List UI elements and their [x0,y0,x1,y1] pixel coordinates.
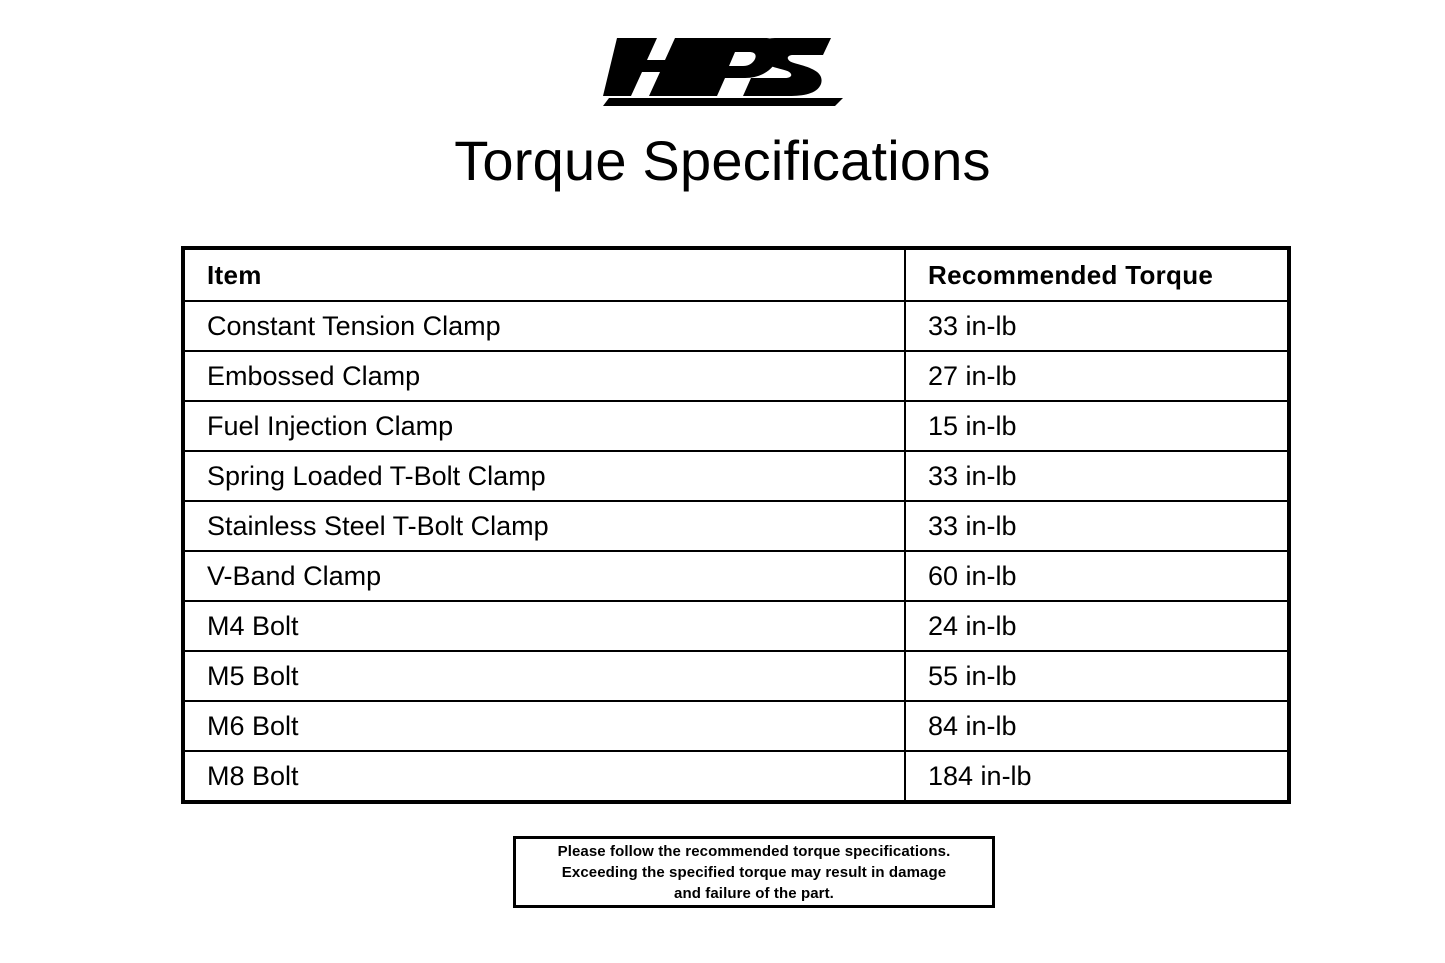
hps-logo-icon [603,34,843,106]
brand-logo [0,34,1445,106]
cell-torque: 15 in-lb [905,401,1289,451]
table-row: Spring Loaded T-Bolt Clamp 33 in-lb [183,451,1289,501]
cell-item: M8 Bolt [183,751,905,802]
table-row: Constant Tension Clamp 33 in-lb [183,301,1289,351]
note-line: Please follow the recommended torque spe… [558,841,951,862]
torque-specifications-table: Item Recommended Torque Constant Tension… [181,246,1291,804]
cell-item: V-Band Clamp [183,551,905,601]
torque-table-container: Item Recommended Torque Constant Tension… [181,246,1287,804]
cell-item: M4 Bolt [183,601,905,651]
note-line: and failure of the part. [674,883,834,904]
cell-torque: 33 in-lb [905,301,1289,351]
table-row: M4 Bolt 24 in-lb [183,601,1289,651]
warning-note-box: Please follow the recommended torque spe… [513,836,995,908]
table-row: M5 Bolt 55 in-lb [183,651,1289,701]
table-header-row: Item Recommended Torque [183,248,1289,301]
table-row: M6 Bolt 84 in-lb [183,701,1289,751]
cell-item: Fuel Injection Clamp [183,401,905,451]
cell-item: Spring Loaded T-Bolt Clamp [183,451,905,501]
cell-torque: 33 in-lb [905,501,1289,551]
cell-torque: 60 in-lb [905,551,1289,601]
cell-torque: 33 in-lb [905,451,1289,501]
cell-item: Stainless Steel T-Bolt Clamp [183,501,905,551]
cell-item: Constant Tension Clamp [183,301,905,351]
cell-item: Embossed Clamp [183,351,905,401]
column-header-torque: Recommended Torque [905,248,1289,301]
cell-torque: 27 in-lb [905,351,1289,401]
page-title: Torque Specifications [0,128,1445,194]
table-row: Stainless Steel T-Bolt Clamp 33 in-lb [183,501,1289,551]
column-header-item: Item [183,248,905,301]
torque-specifications-page: Torque Specifications Item Recommended T… [0,0,1445,963]
cell-torque: 24 in-lb [905,601,1289,651]
table-row: Fuel Injection Clamp 15 in-lb [183,401,1289,451]
cell-torque: 84 in-lb [905,701,1289,751]
table-row: Embossed Clamp 27 in-lb [183,351,1289,401]
cell-item: M6 Bolt [183,701,905,751]
table-row: M8 Bolt 184 in-lb [183,751,1289,802]
note-line: Exceeding the specified torque may resul… [562,862,946,883]
cell-torque: 184 in-lb [905,751,1289,802]
cell-item: M5 Bolt [183,651,905,701]
table-row: V-Band Clamp 60 in-lb [183,551,1289,601]
cell-torque: 55 in-lb [905,651,1289,701]
